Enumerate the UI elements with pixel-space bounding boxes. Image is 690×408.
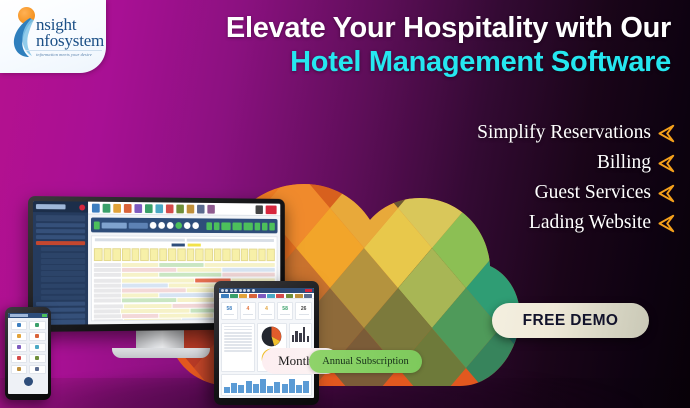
kpi-value: 26 [301,306,307,312]
sidebar-subitem[interactable] [41,283,85,288]
chart-header-bar [91,218,278,234]
feature-label: Guest Services [535,182,651,204]
kpi-card: 4 [240,302,257,320]
sidebar-item[interactable] [36,301,85,306]
kpi-value: 4 [247,306,250,312]
annual-subscription-toggle[interactable]: Annual Subscription [309,350,422,373]
data-table-card [221,323,255,373]
toolbar-icon[interactable] [166,204,174,213]
kpi-value: 58 [227,306,233,312]
sidebar-group [36,215,85,221]
toolbar-icon[interactable] [145,204,153,213]
chevron-left-icon [655,214,676,233]
bar-series [292,326,309,342]
kpi-card: 58 [221,302,238,320]
app-tile[interactable] [29,343,46,352]
logo-divider [26,50,102,51]
tablet-mockup: 58 4 4 58 26 [214,281,319,405]
tablet-bottom-chart [221,374,312,396]
action-button[interactable] [244,222,253,230]
headline-line-2: Hotel Management Software [111,45,671,79]
sidebar-subitem[interactable] [41,277,85,282]
feature-label: Lading Website [529,212,651,234]
app-tile[interactable] [11,354,28,363]
brand-logo-panel[interactable]: nsight nfosystem information meets your … [0,0,106,73]
tablet-screen: 58 4 4 58 26 [219,288,314,398]
app-tile[interactable] [11,332,28,341]
tablet-kpi-row: 58 4 4 58 26 [219,299,314,323]
free-demo-button[interactable]: FREE DEMO [492,303,649,338]
toolbar-icon[interactable] [103,203,111,212]
app-tile[interactable] [29,332,46,341]
feature-item-guest-services: Guest Services [477,178,676,208]
step-dot[interactable] [150,222,157,229]
toolbar-icon[interactable] [207,204,214,213]
sidebar-subitem[interactable] [41,289,85,294]
sidebar-subitem[interactable] [41,265,85,269]
sidebar-subitem[interactable] [41,295,85,300]
brand-tagline: information meets your desire [26,52,102,57]
toolbar-icon[interactable] [92,203,100,212]
sidebar-subitem[interactable] [41,271,85,276]
sidebar-item-active[interactable] [36,241,85,246]
app-tile[interactable] [11,321,28,330]
action-button[interactable] [206,222,212,230]
booking-row[interactable] [94,273,275,277]
kpi-card: 58 [277,302,294,320]
toolbar-icon[interactable] [134,204,142,213]
admin-brand [33,201,88,212]
chevron-left-icon [655,124,676,143]
action-button[interactable] [269,222,274,230]
app-tile[interactable] [11,365,28,374]
toolbar-icon[interactable] [155,204,163,213]
sidebar-item[interactable] [36,235,85,240]
header-title [102,222,127,228]
calendar-day-headers [92,248,277,261]
phone-primary-action-button[interactable] [24,377,33,386]
toolbar-icon[interactable] [124,203,132,212]
sidebar-item[interactable] [36,223,85,228]
toolbar-icon[interactable] [113,203,121,212]
action-button[interactable] [214,222,220,230]
feature-list: Simplify Reservations Billing Guest Serv… [477,118,676,238]
feature-item-billing: Billing [477,148,676,178]
pie-chart-icon [261,326,282,347]
admin-toolbar[interactable] [88,202,280,216]
sidebar-item[interactable] [36,229,85,234]
feature-label: Billing [597,152,651,174]
action-button[interactable] [262,222,267,230]
kpi-card: 4 [258,302,275,320]
brand-wordmark: nsight nfosystem [36,17,104,48]
kpi-value: 4 [265,306,268,312]
feature-item-reservations: Simplify Reservations [477,118,676,148]
toolbar-icon[interactable] [197,204,204,213]
page-title: Elevate Your Hospitality with Our Hotel … [111,11,671,79]
kpi-card: 26 [295,302,312,320]
step-dot[interactable] [192,222,199,229]
app-tile[interactable] [11,343,28,352]
sidebar-subitem[interactable] [41,253,85,258]
monitor-foot [112,348,210,358]
sidebar-subitem[interactable] [41,259,85,263]
phone-screen [8,313,48,394]
monitor-neck [136,328,184,350]
toolbar-icon[interactable] [176,204,184,213]
step-dot[interactable] [158,222,165,229]
phone-app-grid[interactable] [8,318,48,376]
smartphone-mockup [5,307,51,400]
headline-line-1: Elevate Your Hospitality with Our [111,11,671,45]
chevron-left-icon [655,184,676,203]
booking-row[interactable] [94,263,275,267]
action-button[interactable] [221,222,230,230]
marketing-banner: 58 4 4 58 26 [0,0,690,408]
logout-icon[interactable] [266,205,277,214]
kpi-value: 58 [282,306,288,312]
app-tile[interactable] [29,321,46,330]
feature-label: Simplify Reservations [477,122,651,144]
feature-item-lading-website: Lading Website [477,208,676,238]
action-button[interactable] [232,222,241,230]
step-dot[interactable] [167,222,174,229]
app-tile[interactable] [29,354,46,363]
booking-row[interactable] [94,268,275,272]
brand-line-2: nfosystem [36,33,104,49]
app-tile[interactable] [29,365,46,374]
step-dot-active[interactable] [175,222,182,229]
date-range[interactable] [129,222,148,228]
sidebar-subitem[interactable] [41,247,85,252]
step-dot[interactable] [184,222,191,229]
toolbar-icon[interactable] [187,204,195,213]
toolbar-icon[interactable] [256,205,263,214]
action-button[interactable] [255,222,261,230]
header-badge-icon [94,221,100,229]
chevron-left-icon [655,154,676,173]
